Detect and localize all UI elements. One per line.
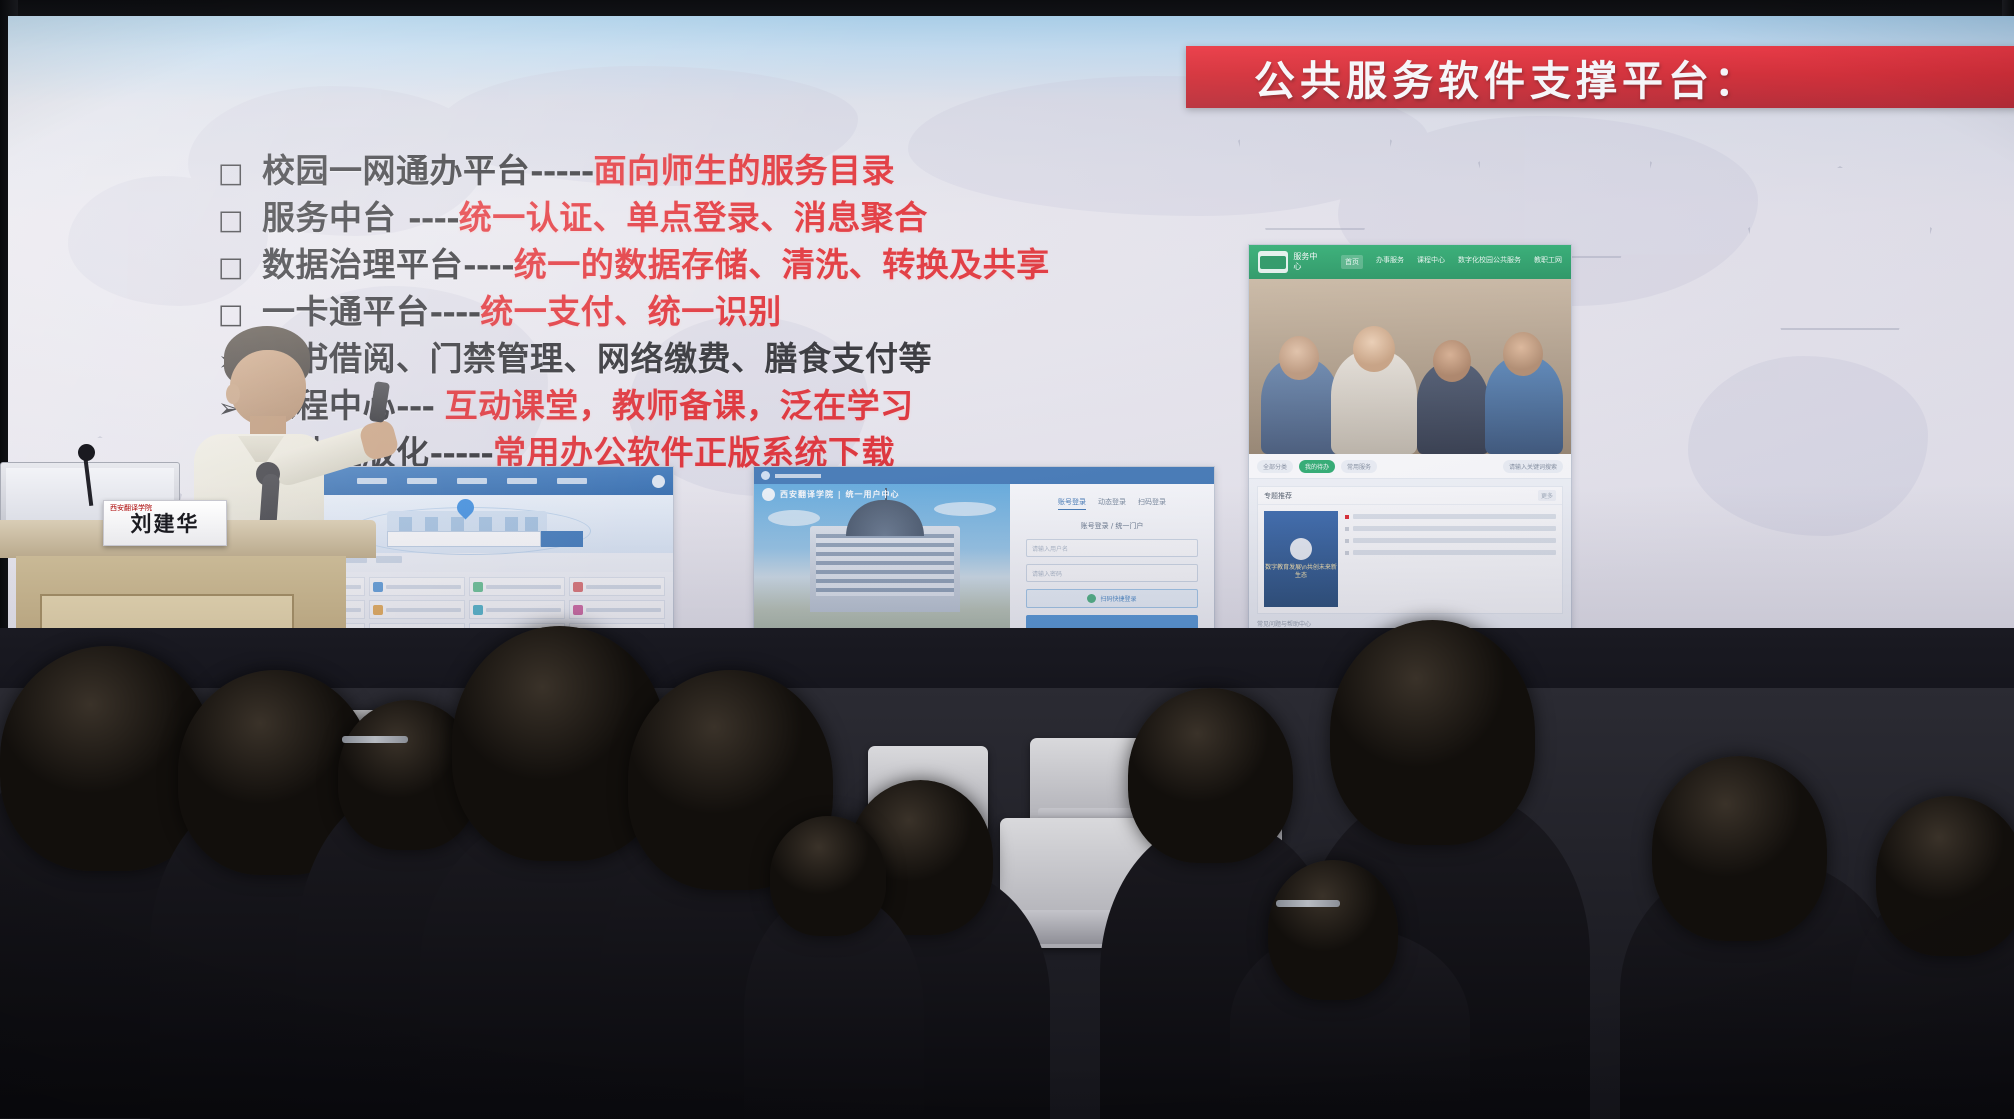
username-field: 请输入用户名 xyxy=(1026,539,1198,557)
qr-icon xyxy=(1087,594,1096,603)
nav-item-home: 首页 xyxy=(1341,255,1363,269)
browser-bar xyxy=(754,467,1214,484)
nav-item xyxy=(457,478,487,484)
qr-label: 扫码快捷登录 xyxy=(1100,594,1136,603)
section-header: 专题推荐 更多 xyxy=(1258,487,1562,505)
student-face xyxy=(1279,336,1319,380)
news-item xyxy=(1345,526,1556,531)
service-portal-nav: 首页 办事服务 课程中心 数字化校园公共服务 教职工网 xyxy=(1341,255,1562,269)
tab-account-login: 账号登录 xyxy=(1058,497,1086,510)
university-logo-icon xyxy=(762,488,775,501)
nameplate-subtitle: 西安翻译学院 xyxy=(110,503,152,513)
avatar-icon xyxy=(761,471,770,480)
nav-item-services: 办事服务 xyxy=(1376,255,1404,269)
audience-head xyxy=(1652,756,1827,941)
nav-item-courses: 课程中心 xyxy=(1417,255,1445,269)
service-card xyxy=(469,600,565,619)
audience-area xyxy=(0,628,2014,1119)
bullet-marker-square: □ xyxy=(218,254,262,281)
section-body: 数字教育发展\n共创未来新生态 xyxy=(1258,505,1562,613)
bullet-marker-square: □ xyxy=(218,301,262,328)
microphone-head-podium xyxy=(78,444,95,461)
service-card xyxy=(569,577,665,596)
title-placeholder xyxy=(775,474,821,478)
building-dome xyxy=(846,500,924,536)
nameplate: 西安翻译学院 刘建华 xyxy=(103,500,227,546)
tab-qr-login: 扫码登录 xyxy=(1138,497,1166,510)
login-tabs: 账号登录 动态登录 扫码登录 xyxy=(1026,497,1198,510)
audience-head xyxy=(1876,796,2014,956)
bullet-text: 服务中台 ----统一认证、单点登录、消息聚合 xyxy=(262,191,928,239)
qr-login-row: 扫码快捷登录 xyxy=(1026,589,1198,608)
featured-poster: 数字教育发展\n共创未来新生态 xyxy=(1264,511,1338,607)
audience-head xyxy=(1268,860,1398,1000)
service-card xyxy=(569,600,665,619)
search-button xyxy=(541,531,583,547)
search-input: 请输入关键词搜索 xyxy=(1503,460,1563,473)
password-field: 请输入密码 xyxy=(1026,564,1198,582)
bullet-row: □ 服务中台 ----统一认证、单点登录、消息聚合 xyxy=(218,191,1218,238)
poster-logo-icon xyxy=(1290,538,1312,560)
filter-bar: 全部分类 我的待办 常用服务 请输入关键词搜索 xyxy=(1249,454,1571,479)
filter-my-todo: 我的待办 xyxy=(1299,460,1335,473)
section-title: 专题推荐 xyxy=(1264,491,1292,501)
bullet-marker-square: □ xyxy=(218,207,262,234)
glasses-icon xyxy=(342,736,408,743)
bullet-row: □ 一卡通平台----统一支付、统一识别 xyxy=(218,285,1218,332)
more-link: 更多 xyxy=(1538,490,1556,501)
site-title: 西安翻译学院 | 统一用户中心 xyxy=(780,489,900,500)
hero-photo-students xyxy=(1249,279,1571,454)
cloud xyxy=(934,502,996,516)
nav-item xyxy=(407,478,437,484)
news-item xyxy=(1345,514,1556,519)
student-face xyxy=(1353,326,1395,372)
slide-title: 公共服务软件支撑平台： xyxy=(1254,47,1760,107)
portal-search xyxy=(387,531,583,547)
bullet-row: □ 校园一网通办平台-----面向师生的服务目录 xyxy=(218,144,1218,191)
nav-item xyxy=(557,478,587,484)
service-card xyxy=(469,577,565,596)
presenter-ear xyxy=(226,384,240,404)
library-building xyxy=(810,526,960,612)
nav-item-digital-campus: 数字化校园公共服务 xyxy=(1458,255,1521,269)
laser-pointer-icon xyxy=(369,381,390,423)
filter-common: 常用服务 xyxy=(1341,460,1377,473)
section-featured: 专题推荐 更多 数字教育发展\n共创未来新生态 xyxy=(1257,486,1563,614)
poster-caption: 数字教育发展\n共创未来新生态 xyxy=(1264,564,1338,580)
student-face xyxy=(1503,332,1543,376)
bullet-text: 数据治理平台----统一的数据存储、清洗、转换及共享 xyxy=(262,238,1050,286)
news-item xyxy=(1345,550,1556,555)
audience-head xyxy=(1330,620,1535,845)
tab-dynamic-login: 动态登录 xyxy=(1098,497,1126,510)
audience-head xyxy=(770,816,886,936)
nav-item xyxy=(507,478,537,484)
page-header: 西安翻译学院 | 统一用户中心 xyxy=(762,488,1002,501)
student-face xyxy=(1433,340,1471,382)
portal-title: 服务中心 xyxy=(1293,252,1319,272)
university-logo-icon xyxy=(1258,251,1288,273)
news-item xyxy=(1345,538,1556,543)
bullet-text: 校园一网通办平台-----面向师生的服务目录 xyxy=(262,144,895,192)
service-portal-header: 服务中心 首页 办事服务 课程中心 数字化校园公共服务 教职工网 xyxy=(1249,245,1571,279)
news-list xyxy=(1345,511,1556,607)
slide-title-banner: 公共服务软件支撑平台： xyxy=(1186,46,2014,108)
search-input xyxy=(387,531,541,547)
nav-item-staff: 教职工网 xyxy=(1534,255,1562,269)
bullet-row: □ 数据治理平台----统一的数据存储、清洗、转换及共享 xyxy=(218,238,1218,285)
bullet-marker-square: □ xyxy=(218,160,262,187)
thumbnail-service-portal: 服务中心 首页 办事服务 课程中心 数字化校园公共服务 教职工网 xyxy=(1248,244,1572,666)
login-hint: 账号登录 / 统一门户 xyxy=(1026,521,1198,531)
cloud xyxy=(768,510,820,526)
filter-all: 全部分类 xyxy=(1257,460,1293,473)
audience-head xyxy=(1128,688,1293,863)
glasses-icon xyxy=(1276,900,1340,907)
avatar xyxy=(652,475,665,488)
presenter-head xyxy=(230,350,306,426)
lecture-hall-photo: 公共服务软件支撑平台： □ 校园一网通办平台-----面向师生的服务目录 □ 服… xyxy=(0,0,2014,1119)
